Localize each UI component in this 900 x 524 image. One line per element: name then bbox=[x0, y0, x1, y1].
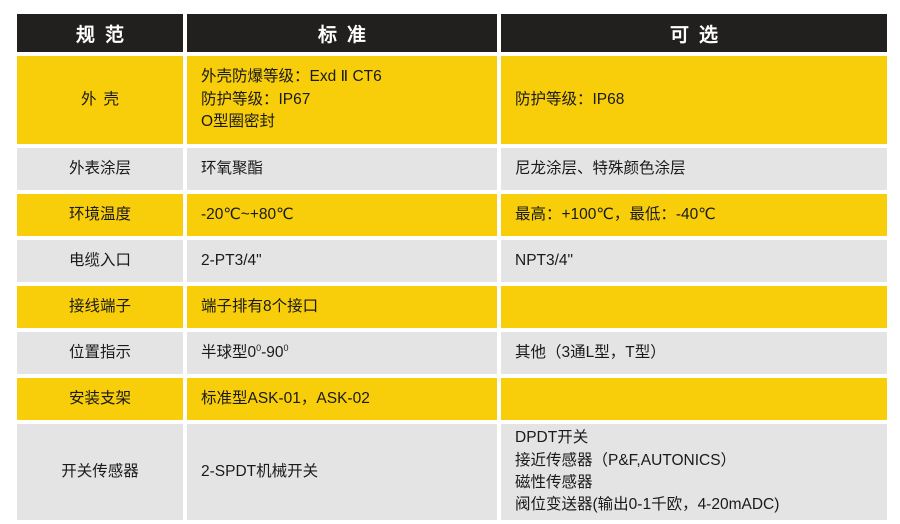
specification-table: 规范 标准 可选 外壳 外壳防爆等级：Exd Ⅱ CT6 防护等级：IP67 O… bbox=[13, 10, 891, 524]
cell-optional-switch-sensor: DPDT开关 接近传感器（P&F,AUTONICS） 磁性传感器 阀位变送器(输… bbox=[501, 424, 887, 520]
cell-spec-temperature: 环境温度 bbox=[17, 194, 183, 236]
degree-superscript-end: 0 bbox=[284, 343, 289, 353]
cell-standard-position-indicator: 半球型00-900 bbox=[187, 332, 497, 374]
cell-optional-shell: 防护等级：IP68 bbox=[501, 56, 887, 144]
column-header-optional: 可选 bbox=[501, 14, 887, 52]
position-middle: -90 bbox=[261, 344, 283, 361]
cell-spec-mounting-bracket: 安装支架 bbox=[17, 378, 183, 420]
cell-standard-coating: 环氧聚酯 bbox=[187, 148, 497, 190]
cell-spec-shell: 外壳 bbox=[17, 56, 183, 144]
cell-spec-position-indicator: 位置指示 bbox=[17, 332, 183, 374]
cell-optional-coating: 尼龙涂层、特殊颜色涂层 bbox=[501, 148, 887, 190]
cell-standard-cable-entry: 2-PT3/4" bbox=[187, 240, 497, 282]
table-row: 接线端子 端子排有8个接口 bbox=[17, 286, 887, 328]
table-row: 电缆入口 2-PT3/4" NPT3/4" bbox=[17, 240, 887, 282]
cell-optional-position-indicator: 其他（3通L型，T型） bbox=[501, 332, 887, 374]
table-row: 开关传感器 2-SPDT机械开关 DPDT开关 接近传感器（P&F,AUTONI… bbox=[17, 424, 887, 520]
table-row: 位置指示 半球型00-900 其他（3通L型，T型） bbox=[17, 332, 887, 374]
column-header-spec: 规范 bbox=[17, 14, 183, 52]
cell-optional-cable-entry: NPT3/4" bbox=[501, 240, 887, 282]
cell-optional-mounting-bracket bbox=[501, 378, 887, 420]
cell-spec-terminal: 接线端子 bbox=[17, 286, 183, 328]
cell-standard-terminal: 端子排有8个接口 bbox=[187, 286, 497, 328]
cell-standard-mounting-bracket: 标准型ASK-01，ASK-02 bbox=[187, 378, 497, 420]
table-row: 安装支架 标准型ASK-01，ASK-02 bbox=[17, 378, 887, 420]
table-body: 外壳 外壳防爆等级：Exd Ⅱ CT6 防护等级：IP67 O型圈密封 防护等级… bbox=[17, 56, 887, 520]
cell-standard-switch-sensor: 2-SPDT机械开关 bbox=[187, 424, 497, 520]
column-header-standard: 标准 bbox=[187, 14, 497, 52]
cell-optional-temperature: 最高：+100℃，最低：-40℃ bbox=[501, 194, 887, 236]
cell-spec-switch-sensor: 开关传感器 bbox=[17, 424, 183, 520]
table-row: 外表涂层 环氧聚酯 尼龙涂层、特殊颜色涂层 bbox=[17, 148, 887, 190]
table-row: 外壳 外壳防爆等级：Exd Ⅱ CT6 防护等级：IP67 O型圈密封 防护等级… bbox=[17, 56, 887, 144]
table-header-row: 规范 标准 可选 bbox=[17, 14, 887, 52]
table-row: 环境温度 -20℃~+80℃ 最高：+100℃，最低：-40℃ bbox=[17, 194, 887, 236]
table-header: 规范 标准 可选 bbox=[17, 14, 887, 52]
cell-spec-coating: 外表涂层 bbox=[17, 148, 183, 190]
cell-optional-terminal bbox=[501, 286, 887, 328]
cell-spec-cable-entry: 电缆入口 bbox=[17, 240, 183, 282]
position-prefix: 半球型0 bbox=[201, 344, 256, 361]
cell-standard-temperature: -20℃~+80℃ bbox=[187, 194, 497, 236]
cell-standard-shell: 外壳防爆等级：Exd Ⅱ CT6 防护等级：IP67 O型圈密封 bbox=[187, 56, 497, 144]
